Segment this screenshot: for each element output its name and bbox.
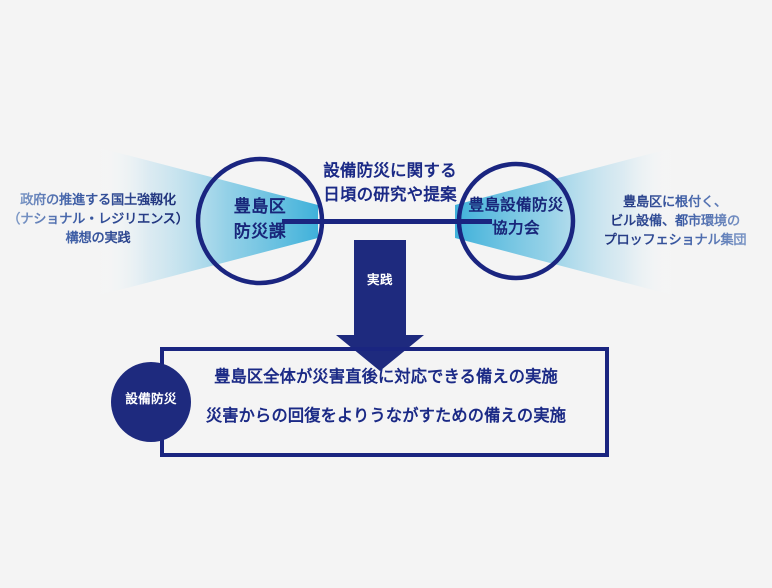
text-line: 豊島区に根付く、	[578, 192, 772, 211]
outcome-badge-label: 設備防災	[113, 390, 189, 408]
arrow-label: 実践	[350, 271, 410, 289]
center-heading: 設備防災に関する日頃の研究や提案	[290, 160, 490, 208]
outcome-text-block: 豊島区全体が災害直後に対応できる備えの実施災害からの回復をよりうながすための備え…	[180, 366, 592, 429]
left-caption: 政府の推進する国土強靱化（ナショナル・レジリエンス）構想の実践	[0, 190, 196, 247]
diagram-graphics	[0, 0, 772, 588]
down-arrow	[336, 240, 424, 371]
text-line: （ナショナル・レジリエンス）	[0, 209, 196, 228]
diagram-canvas: 政府の推進する国土強靱化（ナショナル・レジリエンス）構想の実践 豊島区に根付く、…	[0, 0, 772, 588]
text-line: 設備防災に関する	[290, 160, 490, 184]
text-line: プロッフェショナル集団	[578, 230, 772, 249]
text-line: ビル設備、都市環境の	[578, 211, 772, 230]
text-line: 協力会	[449, 218, 583, 241]
right-caption: 豊島区に根付く、ビル設備、都市環境のプロッフェショナル集団	[578, 192, 772, 249]
text-line: 政府の推進する国土強靱化	[0, 190, 196, 209]
text-line: 災害からの回復をよりうながすための備えの実施	[180, 405, 592, 428]
text-line: 日頃の研究や提案	[290, 184, 490, 208]
text-line: 構想の実践	[0, 228, 196, 247]
text-line: 豊島区全体が災害直後に対応できる備えの実施	[180, 366, 592, 389]
text-line: 防災課	[196, 220, 324, 245]
